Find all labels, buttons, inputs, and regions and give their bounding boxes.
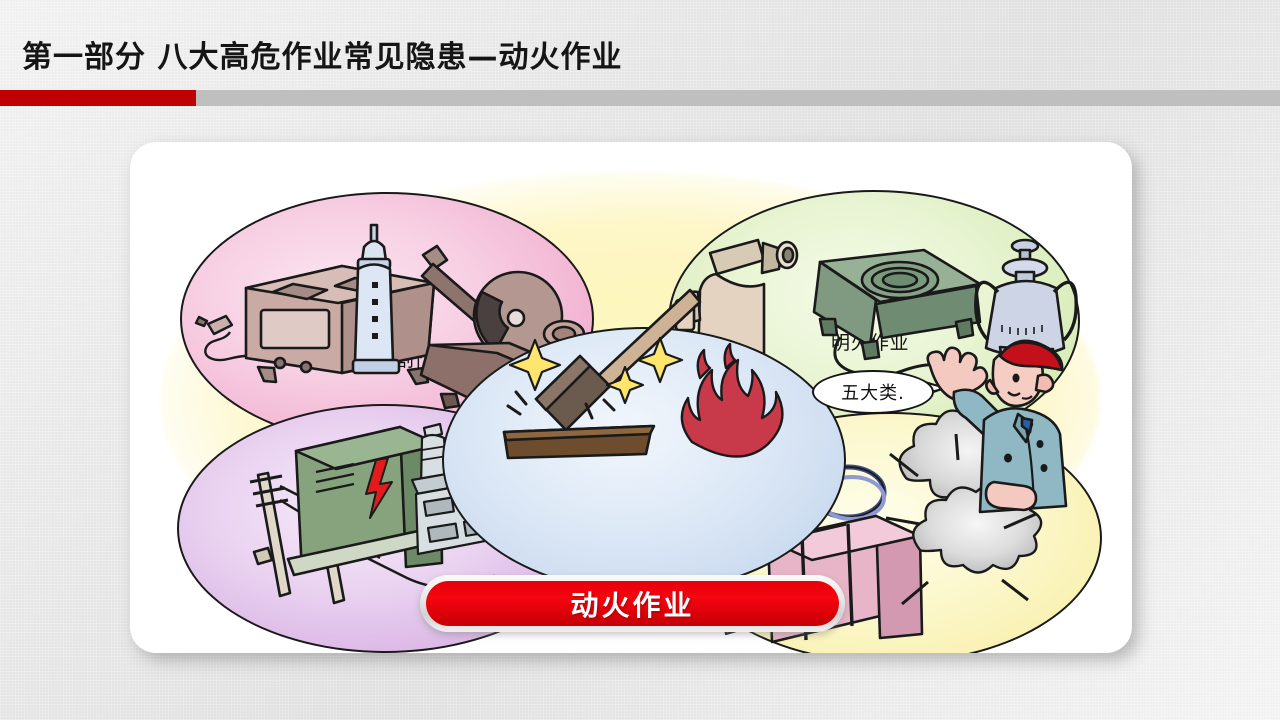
content-card: 焊接、切割作业 xyxy=(130,142,1132,653)
title-banner-inner: 动火作业 xyxy=(426,581,839,626)
page-title: 第一部分 八大高危作业常见隐患—动火作业 xyxy=(22,32,622,76)
diagram-artwork: 焊接、切割作业 xyxy=(130,142,1132,653)
title-banner[interactable]: 动火作业 xyxy=(420,575,845,632)
speech-bubble: 五大类. xyxy=(812,370,934,414)
speech-bubble-text: 五大类. xyxy=(841,379,905,405)
divider-red-accent xyxy=(0,90,196,106)
safety-worker-character xyxy=(922,324,1072,514)
title-banner-label: 动火作业 xyxy=(570,584,694,624)
header-divider xyxy=(0,90,1280,106)
